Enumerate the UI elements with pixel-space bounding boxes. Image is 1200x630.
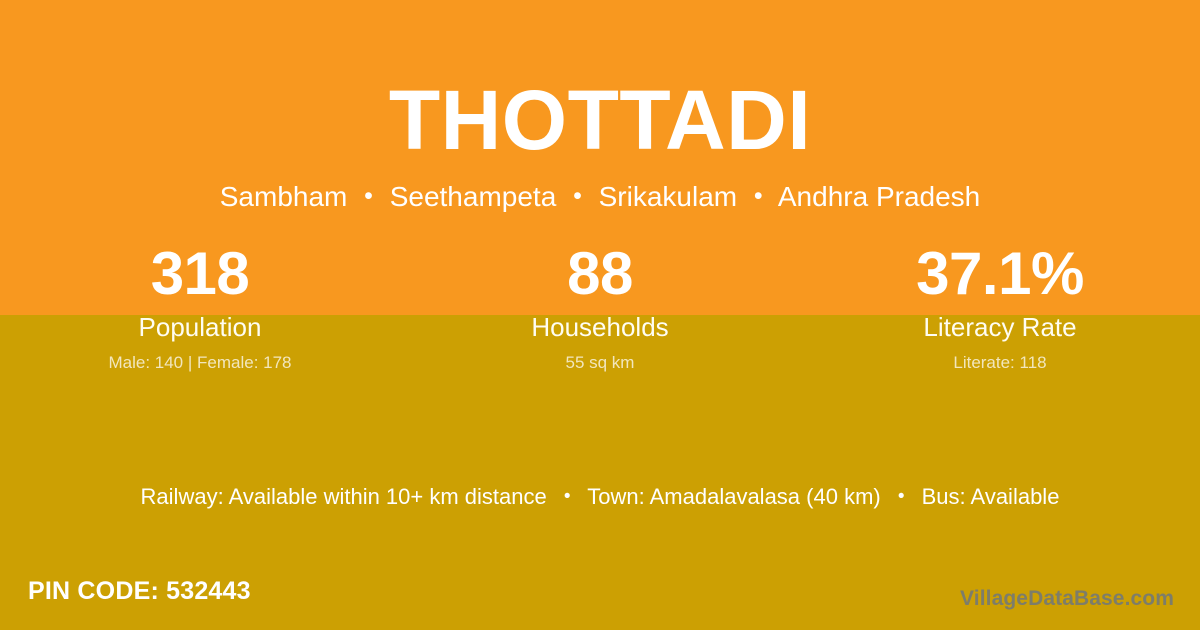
site-brand-watermark: VillageDataBase.com bbox=[960, 586, 1174, 611]
statistics-row: 318 Population Male: 140 | Female: 178 8… bbox=[0, 243, 1200, 373]
location-part-subdistrict: Seethampeta bbox=[390, 181, 557, 212]
stat-label: Households bbox=[400, 312, 800, 343]
stat-value: 318 bbox=[0, 243, 400, 305]
card-header: THOTTADI Sambham • Seethampeta • Srikaku… bbox=[0, 0, 1200, 213]
stat-value: 37.1% bbox=[800, 243, 1200, 305]
pin-code-label: PIN CODE: 532443 bbox=[28, 576, 251, 606]
amenities-line: Railway: Available within 10+ km distanc… bbox=[0, 483, 1200, 511]
stat-population: 318 Population Male: 140 | Female: 178 bbox=[0, 243, 400, 373]
amenity-town: Town: Amadalavalasa (40 km) bbox=[587, 484, 880, 509]
stat-households: 88 Households 55 sq km bbox=[400, 243, 800, 373]
location-part-state: Andhra Pradesh bbox=[778, 181, 980, 212]
bullet-separator-icon: • bbox=[355, 181, 382, 211]
amenity-bus: Bus: Available bbox=[922, 484, 1060, 509]
bullet-separator-icon: • bbox=[745, 181, 772, 211]
stat-label: Population bbox=[0, 312, 400, 343]
location-breadcrumb: Sambham • Seethampeta • Srikakulam • And… bbox=[0, 164, 1200, 214]
bullet-separator-icon: • bbox=[887, 485, 916, 509]
bullet-separator-icon: • bbox=[564, 181, 591, 211]
stat-sublabel: Male: 140 | Female: 178 bbox=[0, 353, 400, 373]
stat-value: 88 bbox=[400, 243, 800, 305]
location-part-mandal: Sambham bbox=[220, 181, 348, 212]
village-title: THOTTADI bbox=[0, 0, 1200, 164]
stat-sublabel: Literate: 118 bbox=[800, 353, 1200, 373]
location-part-district: Srikakulam bbox=[599, 181, 737, 212]
amenity-railway: Railway: Available within 10+ km distanc… bbox=[141, 484, 547, 509]
stat-sublabel: 55 sq km bbox=[400, 353, 800, 373]
stat-label: Literacy Rate bbox=[800, 312, 1200, 343]
stat-literacy-rate: 37.1% Literacy Rate Literate: 118 bbox=[800, 243, 1200, 373]
bullet-separator-icon: • bbox=[553, 485, 582, 509]
village-info-card: THOTTADI Sambham • Seethampeta • Srikaku… bbox=[0, 0, 1200, 630]
